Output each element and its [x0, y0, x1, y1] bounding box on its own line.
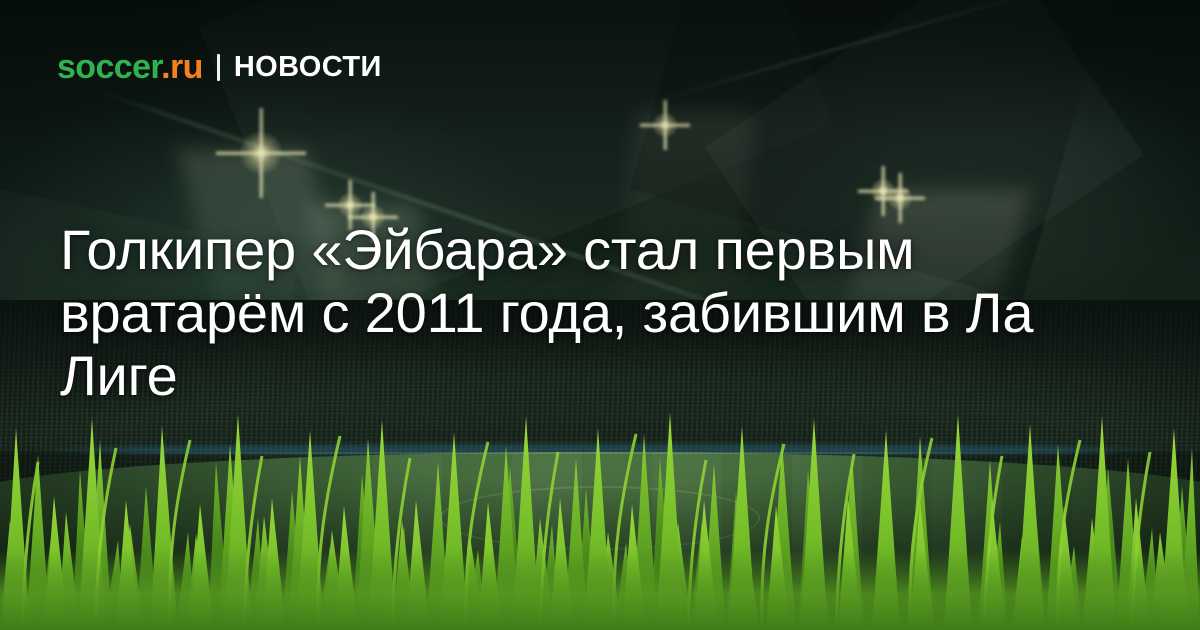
brand-header: soccer.ru НОВОСТИ — [57, 50, 382, 84]
section-label: НОВОСТИ — [234, 53, 382, 82]
site-logo[interactable]: soccer.ru — [57, 50, 203, 84]
page-title: Голкипер «Эйбара» стал первым вратарём с… — [60, 218, 1150, 407]
logo-primary-text: soccer — [57, 48, 161, 86]
brand-separator — [217, 54, 220, 81]
logo-accent-text: .ru — [161, 48, 203, 86]
news-share-card: soccer.ru НОВОСТИ Голкипер «Эйбара» стал… — [0, 0, 1200, 630]
